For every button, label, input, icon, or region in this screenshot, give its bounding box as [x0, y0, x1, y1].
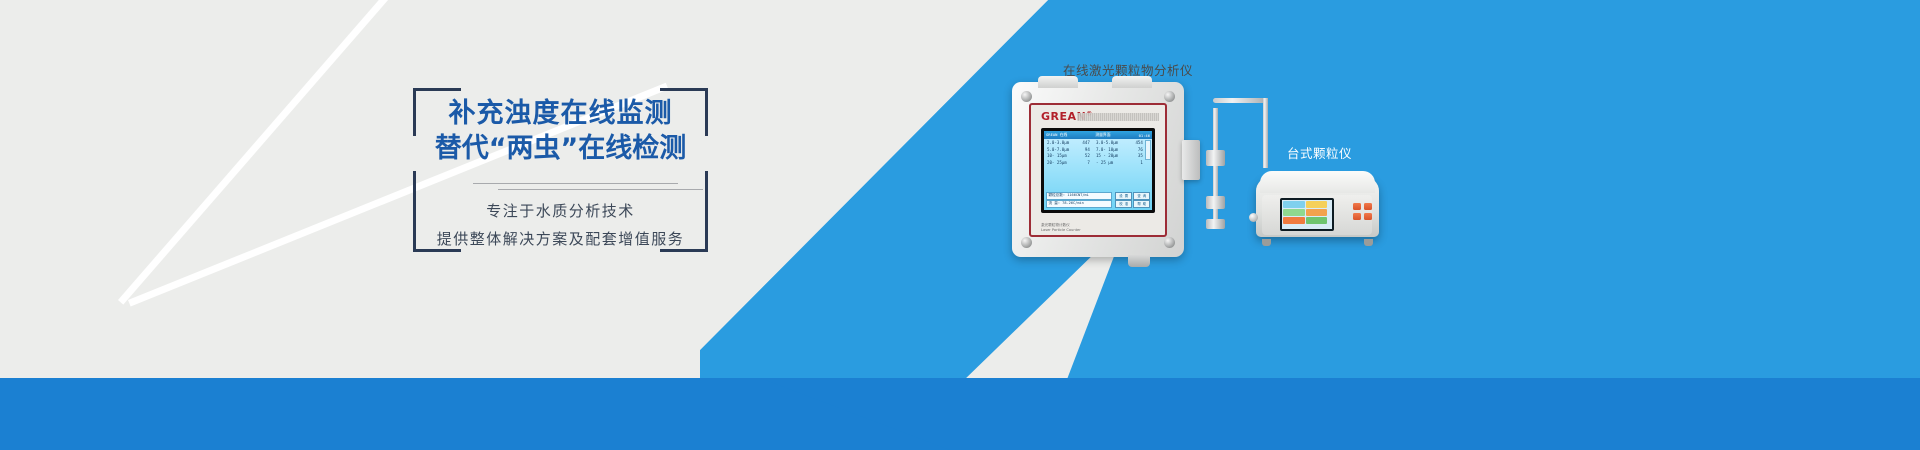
lcd-title-bar: GREAN 在线 测量界面 01:46	[1044, 131, 1152, 139]
analyzer-lcd-bezel: GREAN 在线 测量界面 01:46 2.0-3.0μm 447 3.0-5.…	[1041, 128, 1155, 213]
cell-value-a: 447	[1074, 141, 1096, 145]
display-tile	[1306, 217, 1328, 224]
analyzer-screw-top-left	[1021, 91, 1032, 102]
analyzer-side-sensor-block	[1182, 140, 1200, 180]
lcd-status-row-2: 流 量: 78.26C/min 校 准 帮 助	[1046, 200, 1150, 208]
hero-subtitle-1: 专注于水质分析技术	[413, 200, 708, 221]
lcd-data-table: 2.0-3.0μm 447 3.0-5.0μm 454 5.0-7.0μm 94…	[1044, 139, 1152, 165]
display-tile	[1306, 201, 1328, 208]
cell-range-a: 5.0-7.0μm	[1047, 148, 1074, 152]
analyzer-front-panel: GREAN® GREAN 在线 测量界面 01:46 2.0-3.0μm 447…	[1029, 103, 1167, 237]
cell-range-a: 20- 25μm	[1047, 161, 1074, 165]
table-row: 20- 25μm 7 - 25 μm 1	[1047, 161, 1149, 165]
cell-range-a: 10- 15μm	[1047, 154, 1074, 158]
cell-value-a: 52	[1074, 154, 1096, 158]
cell-range-b: - 25 μm	[1096, 161, 1127, 165]
benchtop-keypad[interactable]	[1353, 203, 1372, 220]
lcd-status-row-1: 颗粒总数: 1166CNT/mL 设 置 查 询	[1046, 192, 1150, 200]
keypad-button[interactable]	[1353, 203, 1361, 210]
table-row: 5.0-7.0μm 94 7.0- 10μm 76	[1047, 148, 1149, 152]
lcd-title-left: GREAN 在线	[1046, 132, 1067, 138]
lcd-scrollbar[interactable]	[1145, 140, 1151, 160]
lcd-button-settings[interactable]: 设 置	[1115, 192, 1132, 200]
lcd-button-query[interactable]: 查 询	[1133, 192, 1150, 200]
lcd-title-right: 01:46	[1139, 133, 1150, 138]
cell-value-b: 1	[1127, 161, 1143, 165]
cell-value-a: 7	[1074, 161, 1096, 165]
tube-joint-lower	[1206, 219, 1225, 229]
hero-banner: 补充浊度在线监测 替代“两虫”在线检测 专注于水质分析技术 提供整体解决方案及配…	[0, 0, 1920, 450]
analyzer-hinge-left	[1038, 76, 1078, 88]
display-tile	[1283, 209, 1305, 216]
divider-line-1	[473, 183, 678, 184]
benchtop-display[interactable]	[1280, 198, 1334, 231]
display-tile	[1283, 201, 1305, 208]
analyzer-screw-top-right	[1164, 91, 1175, 102]
lcd-title-center: 测量界面	[1095, 132, 1110, 138]
keypad-button[interactable]	[1353, 213, 1361, 220]
table-row: 2.0-3.0μm 447 3.0-5.0μm 454	[1047, 141, 1149, 145]
lcd-button-help[interactable]: 帮 助	[1133, 200, 1150, 208]
tube-joint-middle	[1206, 196, 1225, 209]
benchtop-foot-left	[1262, 239, 1271, 246]
table-row: 10- 15μm 52 15 - 20μm 35	[1047, 154, 1149, 158]
display-tile	[1283, 217, 1305, 224]
analyzer-vent-grille	[1077, 113, 1159, 121]
analyzer-footer-text: 激光颗粒物计数仪 Laser Particle Counter	[1041, 223, 1081, 232]
hero-subtitle-2: 提供整体解决方案及配套增值服务	[413, 228, 708, 249]
benchtop-inlet-knob	[1249, 213, 1258, 222]
display-tile	[1306, 209, 1328, 216]
hero-text-block: 补充浊度在线监测 替代“两虫”在线检测 专注于水质分析技术 提供整体解决方案及配…	[413, 88, 708, 252]
benchtop-display-content	[1282, 200, 1332, 229]
benchtop-particle-counter	[1256, 167, 1379, 249]
analyzer-screw-bottom-right	[1164, 237, 1175, 248]
tube-joint-upper	[1206, 150, 1225, 166]
cell-range-b: 15 - 20μm	[1096, 154, 1127, 158]
cell-value-b: 454	[1127, 141, 1143, 145]
headline-line-2: 替代“两虫”在线检测	[413, 131, 708, 166]
background-bottom-band	[0, 378, 1920, 450]
analyzer-screw-bottom-left	[1021, 237, 1032, 248]
keypad-button[interactable]	[1364, 203, 1372, 210]
online-laser-particle-analyzer: GREAN® GREAN 在线 测量界面 01:46 2.0-3.0μm 447…	[1012, 82, 1184, 257]
analyzer-bottom-port	[1128, 255, 1150, 267]
benchtop-upper-shell	[1260, 171, 1375, 193]
product-label-bench: 台式颗粒仪	[1287, 143, 1352, 162]
tube-top-segment	[1213, 98, 1268, 103]
divider-line-2	[498, 189, 703, 190]
keypad-button[interactable]	[1364, 213, 1372, 220]
analyzer-footer-en: Laser Particle Counter	[1041, 228, 1081, 232]
cell-value-b: 35	[1127, 154, 1143, 158]
lcd-button-calibrate[interactable]: 校 准	[1115, 200, 1132, 208]
headline-divider	[413, 183, 708, 193]
benchtop-foot-right	[1364, 239, 1373, 246]
analyzer-hinge-right	[1112, 76, 1152, 88]
analyzer-lcd-screen[interactable]: GREAN 在线 测量界面 01:46 2.0-3.0μm 447 3.0-5.…	[1044, 131, 1152, 210]
lcd-flow-rate-field: 流 量: 78.26C/min	[1046, 200, 1112, 208]
cell-value-b: 76	[1127, 148, 1143, 152]
cell-value-a: 94	[1074, 148, 1096, 152]
lcd-total-count-field: 颗粒总数: 1166CNT/mL	[1046, 192, 1112, 200]
cell-range-b: 3.0-5.0μm	[1096, 141, 1127, 145]
cell-range-a: 2.0-3.0μm	[1047, 141, 1074, 145]
headline-line-1: 补充浊度在线监测	[413, 96, 708, 131]
cell-range-b: 7.0- 10μm	[1096, 148, 1127, 152]
hero-headline: 补充浊度在线监测 替代“两虫”在线检测	[413, 96, 708, 166]
tube-vertical-right	[1263, 98, 1268, 168]
